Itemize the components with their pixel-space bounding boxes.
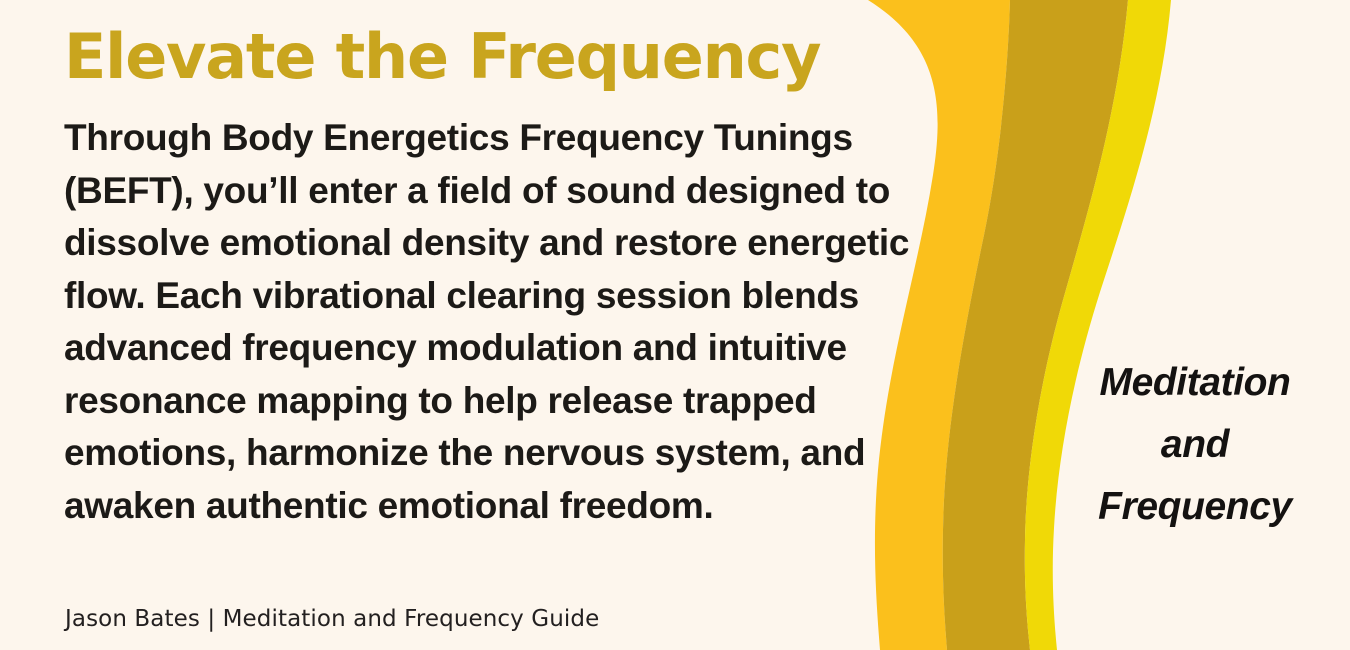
ribbon-band-dark-gold xyxy=(943,0,1128,650)
side-label-line-1: Meditation xyxy=(1055,352,1335,414)
poster-canvas: Elevate the Frequency Through Body Energ… xyxy=(0,0,1350,650)
side-label: Meditation and Frequency xyxy=(1055,352,1335,538)
ribbon-band-bright-yellow xyxy=(1025,0,1171,650)
page-title: Elevate the Frequency xyxy=(64,26,820,88)
side-label-line-2: and xyxy=(1055,414,1335,476)
content-column: Elevate the Frequency Through Body Energ… xyxy=(64,0,934,650)
body-paragraph: Through Body Energetics Frequency Tuning… xyxy=(64,112,932,532)
side-label-line-3: Frequency xyxy=(1055,476,1335,538)
byline-credit: Jason Bates | Meditation and Frequency G… xyxy=(65,606,599,632)
